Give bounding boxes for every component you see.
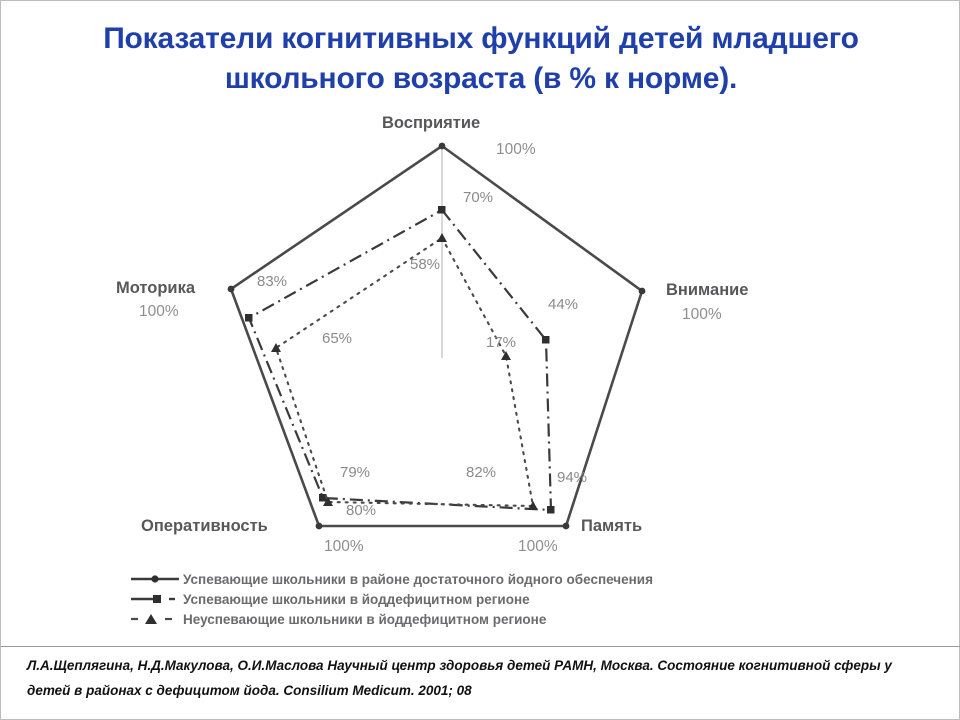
axis-label-operability: Оперативность (141, 517, 268, 536)
series-b-point-memory (547, 506, 555, 514)
axis-max-perception: 100% (496, 141, 536, 159)
series-c-point-perception (437, 233, 447, 242)
series-c-point-motor (271, 343, 281, 352)
value-label-perception-b: 70% (463, 189, 493, 206)
legend-key-square-icon (129, 590, 183, 608)
value-label-motor-b: 83% (257, 273, 287, 290)
legend-label-series-b: Успевающие школьники в йоддефицитном рег… (183, 592, 530, 607)
axis-label-motor: Моторика (116, 279, 195, 298)
legend-label-series-a: Успевающие школьники в районе достаточно… (183, 572, 653, 587)
axis-max-operability: 100% (324, 538, 364, 556)
legend-key-triangle-icon (129, 610, 183, 628)
series-a-point-attention (639, 288, 646, 295)
legend-label-series-c: Неуспевающие школьники в йоддефицитном р… (183, 612, 546, 627)
series-b-point-attention (542, 336, 550, 344)
value-label-perception-c: 58% (410, 256, 440, 273)
radar-chart: Восприятие 100% Внимание 100% Память 100… (1, 106, 960, 646)
value-label-memory-c: 82% (466, 464, 496, 481)
legend-item-series-c: Неуспевающие школьники в йоддефицитном р… (129, 609, 829, 629)
axis-label-perception: Восприятие (382, 114, 480, 133)
value-label-attention-c: 17% (486, 334, 516, 351)
series-a-point-memory (563, 523, 570, 530)
value-label-attention-b: 44% (548, 296, 578, 313)
citation-text: Л.А.Щеплягина, Н.Д.Макулова, О.И.Маслова… (27, 653, 937, 703)
value-label-operability-b: 80% (346, 502, 376, 519)
value-label-motor-c: 65% (322, 330, 352, 347)
series-b-point-operability (319, 494, 327, 502)
series-a-point-operability (316, 523, 323, 530)
value-label-operability-c: 79% (340, 464, 370, 481)
legend-key-circle-icon (129, 570, 183, 588)
footer-divider (1, 646, 960, 647)
radar-plot-svg (1, 106, 960, 646)
axis-max-memory: 100% (518, 538, 558, 556)
axis-max-attention: 100% (682, 306, 722, 324)
series-b-point-perception (438, 206, 446, 214)
series-b-point-motor (245, 314, 253, 322)
axis-label-attention: Внимание (666, 281, 748, 300)
series-a-point-perception (439, 143, 446, 150)
axis-max-motor: 100% (139, 303, 179, 321)
legend-item-series-b: Успевающие школьники в йоддефицитном рег… (129, 589, 829, 609)
series-c-point-attention (501, 351, 511, 360)
value-label-memory-b: 94% (557, 469, 587, 486)
axis-label-memory: Память (581, 517, 642, 536)
page-title: Показатели когнитивных функций детей мла… (41, 19, 921, 99)
chart-legend: Успевающие школьники в районе достаточно… (129, 569, 829, 629)
legend-item-series-a: Успевающие школьники в районе достаточно… (129, 569, 829, 589)
series-a-point-motor (228, 286, 235, 293)
